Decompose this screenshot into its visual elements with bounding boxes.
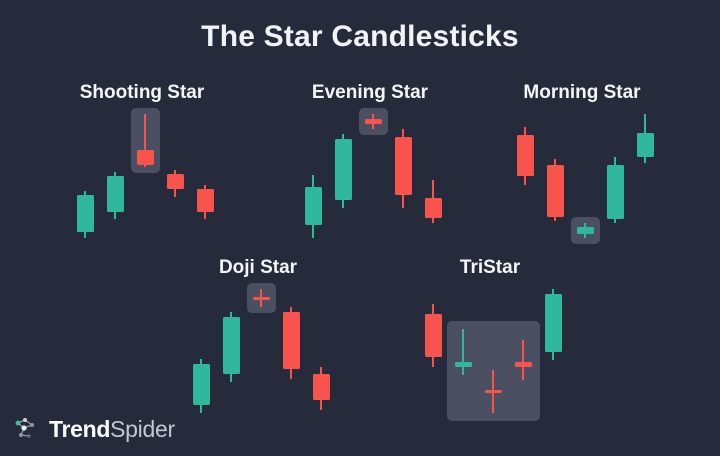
candle-body bbox=[253, 297, 270, 300]
candlestick-chart-morning-star bbox=[492, 110, 672, 242]
candle-body bbox=[107, 176, 124, 212]
brand-wordmark: TrendSpider bbox=[49, 418, 175, 441]
candlestick-chart-doji-star bbox=[168, 285, 348, 417]
candle-tristar-2 bbox=[455, 285, 472, 417]
candle-morning-star-1 bbox=[517, 110, 534, 242]
candle-doji-star-4 bbox=[283, 285, 300, 417]
candle-body bbox=[425, 314, 442, 357]
candle-doji-star-2 bbox=[223, 285, 240, 417]
candle-shooting-star-4 bbox=[167, 110, 184, 242]
candlestick-chart-shooting-star bbox=[52, 110, 232, 242]
page-title: The Star Candlesticks bbox=[0, 20, 720, 54]
panel-title-doji-star: Doji Star bbox=[168, 257, 348, 279]
candle-body bbox=[365, 119, 382, 124]
panel-title-morning-star: Morning Star bbox=[492, 82, 672, 104]
pattern-panel-evening-star: Evening Star bbox=[280, 82, 460, 247]
molecule-node-icon bbox=[14, 416, 40, 442]
trendspider-logo: TrendSpider bbox=[14, 416, 175, 442]
candle-tristar-4 bbox=[515, 285, 532, 417]
candle-evening-star-3 bbox=[365, 110, 382, 242]
pattern-panel-doji-star: Doji Star bbox=[168, 257, 348, 407]
candle-shooting-star-5 bbox=[197, 110, 214, 242]
candle-shooting-star-2 bbox=[107, 110, 124, 242]
candle-tristar-3 bbox=[485, 285, 502, 417]
candle-body bbox=[77, 195, 94, 231]
candlestick-chart-tristar bbox=[400, 285, 580, 417]
candle-morning-star-4 bbox=[607, 110, 624, 242]
candle-doji-star-5 bbox=[313, 285, 330, 417]
candle-body bbox=[545, 294, 562, 352]
candle-tristar-1 bbox=[425, 285, 442, 417]
candle-evening-star-2 bbox=[335, 110, 352, 242]
brand-name-bold: Trend bbox=[49, 416, 110, 442]
candle-tristar-5 bbox=[545, 285, 562, 417]
candle-shooting-star-3 bbox=[137, 110, 154, 242]
candle-morning-star-3 bbox=[577, 110, 594, 242]
candle-body bbox=[305, 187, 322, 225]
candle-morning-star-5 bbox=[637, 110, 654, 242]
brand-name-light: Spider bbox=[110, 416, 175, 442]
candle-evening-star-4 bbox=[395, 110, 412, 242]
candle-doji-star-3 bbox=[253, 285, 270, 417]
candle-body bbox=[637, 133, 654, 157]
candle-body bbox=[167, 174, 184, 189]
candle-body bbox=[577, 227, 594, 233]
candle-body bbox=[425, 198, 442, 218]
candle-body bbox=[223, 317, 240, 374]
candle-body bbox=[193, 364, 210, 405]
candle-body bbox=[547, 165, 564, 216]
candle-evening-star-1 bbox=[305, 110, 322, 242]
candle-wick bbox=[522, 340, 524, 380]
panel-title-evening-star: Evening Star bbox=[280, 82, 460, 104]
candle-body bbox=[395, 137, 412, 195]
candle-body bbox=[137, 150, 154, 165]
candlestick-chart-evening-star bbox=[280, 110, 460, 242]
candle-doji-star-1 bbox=[193, 285, 210, 417]
candle-shooting-star-1 bbox=[77, 110, 94, 242]
candle-morning-star-2 bbox=[547, 110, 564, 242]
pattern-panel-tristar: TriStar bbox=[400, 257, 580, 407]
candle-body bbox=[197, 189, 214, 213]
infographic-canvas: The Star Candlesticks Shooting Star Even… bbox=[0, 0, 720, 456]
candle-evening-star-5 bbox=[425, 110, 442, 242]
panel-title-tristar: TriStar bbox=[400, 257, 580, 279]
candle-body bbox=[313, 374, 330, 400]
candle-body bbox=[515, 362, 532, 367]
panel-title-shooting-star: Shooting Star bbox=[52, 82, 232, 104]
candle-body bbox=[335, 139, 352, 200]
pattern-panel-shooting-star: Shooting Star bbox=[52, 82, 232, 247]
candle-body bbox=[283, 312, 300, 369]
candle-wick bbox=[462, 329, 464, 375]
candle-body bbox=[485, 390, 502, 393]
pattern-panel-morning-star: Morning Star bbox=[492, 82, 672, 247]
candle-body bbox=[517, 135, 534, 176]
candle-body bbox=[455, 362, 472, 367]
candle-body bbox=[607, 165, 624, 218]
